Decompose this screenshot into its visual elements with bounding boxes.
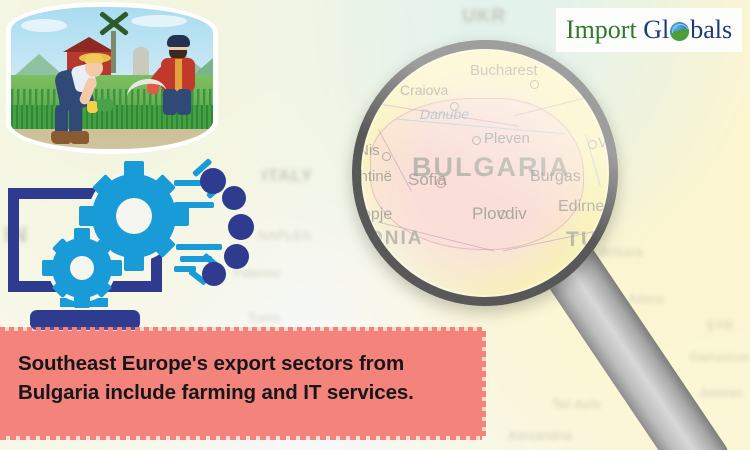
map-label: UKR [462, 6, 506, 28]
circuit-node [200, 168, 226, 194]
cap [167, 35, 190, 47]
harvested-crop [97, 99, 113, 111]
cloud [21, 19, 67, 32]
brand-logo[interactable]: Import Glbals [556, 8, 742, 52]
map-label: ITALY [262, 166, 313, 186]
caption-line-1: Southeast Europe's export sectors from [18, 349, 468, 378]
farming-scene [11, 7, 213, 149]
map-label: Damascus [690, 350, 749, 364]
brand-logo-text: Import Glbals [566, 17, 732, 43]
globe-icon [670, 22, 689, 41]
map-label: SYR [706, 318, 734, 333]
farming-illustration [6, 2, 218, 154]
leg [163, 89, 177, 115]
leg [177, 89, 191, 115]
banner-torn-edge [479, 331, 486, 436]
circuit-node [228, 214, 254, 240]
map-label: Alexandria [508, 428, 572, 443]
circuit-wire [174, 202, 214, 208]
suspender [175, 59, 182, 91]
gear-small [52, 238, 112, 298]
circuit-wire [176, 244, 222, 250]
infographic-canvas: UKRITALYNAPLESPalermoTunisTel AvivAlexan… [0, 0, 750, 450]
boot [69, 131, 89, 144]
magnifier-rim [352, 40, 618, 306]
circuit-wire [174, 180, 202, 186]
cloud [131, 15, 187, 27]
map-label: Amman [700, 386, 743, 400]
caption-text: Southeast Europe's export sectors from B… [18, 349, 468, 407]
it-services-illustration [4, 168, 266, 348]
map-label: Adana [628, 292, 664, 306]
caption-line-2: Bulgaria include farming and IT services… [18, 378, 468, 407]
map-label: Tel Aviv [552, 396, 602, 412]
boot [51, 131, 71, 144]
hat-crown [85, 54, 103, 63]
caption-banner: Southeast Europe's export sectors from B… [0, 331, 482, 436]
circuit-node [224, 244, 249, 269]
logo-word-globals-prefix: Gl [643, 15, 669, 44]
logo-word-import: Import [566, 15, 637, 44]
circuit-node [202, 262, 226, 286]
farmer-bending [39, 55, 115, 147]
circuit-node [222, 186, 246, 210]
barn-roof [63, 37, 115, 52]
logo-word-globals-suffix: bals [690, 15, 732, 44]
farmer-standing [147, 39, 213, 131]
